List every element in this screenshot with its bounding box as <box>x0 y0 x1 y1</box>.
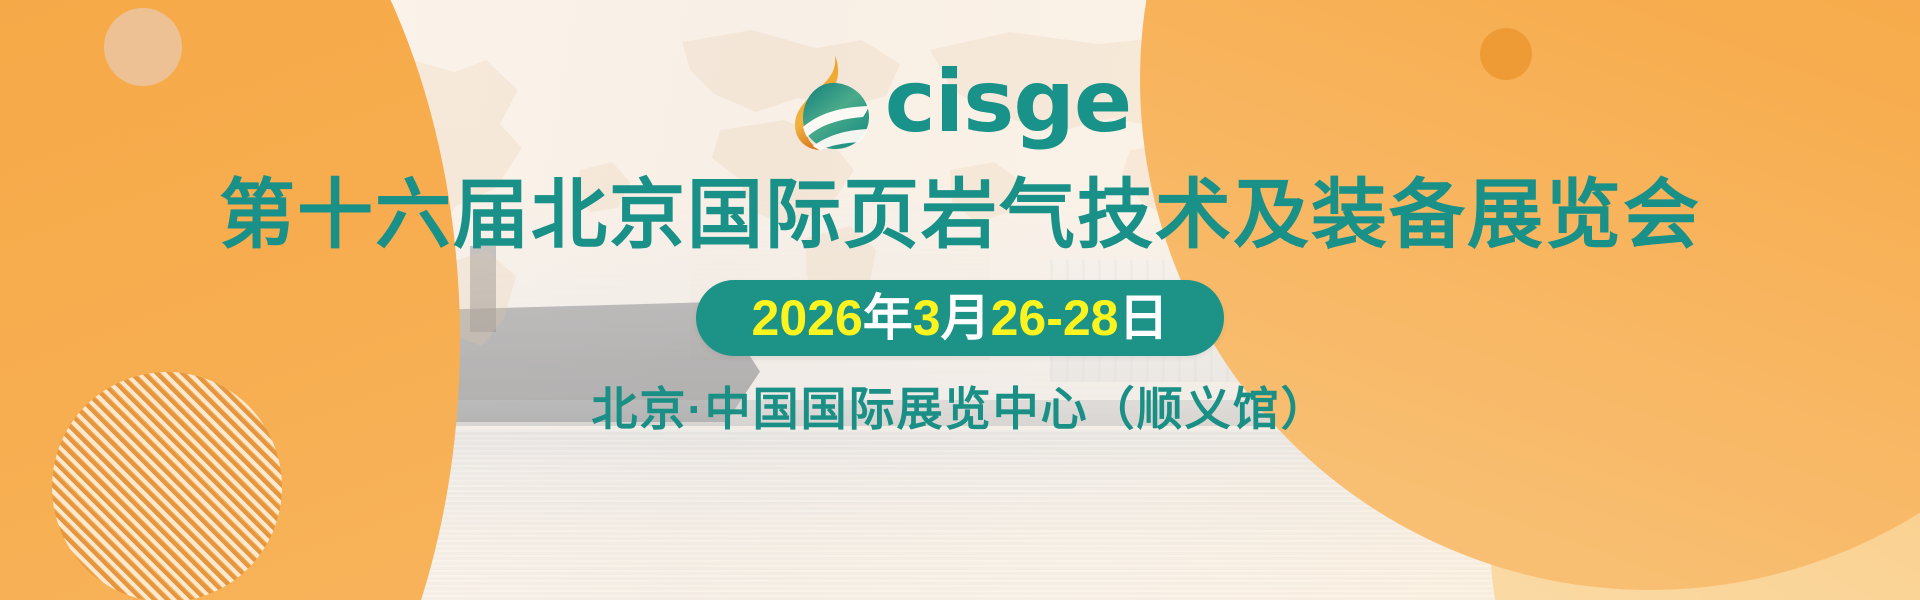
venue-text: 北京·中国国际展览中心（顺义馆） <box>591 386 1328 432</box>
date-days: 26-28 <box>991 290 1119 346</box>
date-badge: 2026年3月26-28日 <box>696 280 1225 356</box>
date-day-unit: 日 <box>1118 290 1168 346</box>
event-banner: cisge 第十六届北京国际页岩气技术及装备展览会 2026年3月26-28日 … <box>0 0 1920 600</box>
date-month: 3 <box>913 290 941 346</box>
logo[interactable]: cisge <box>789 50 1132 154</box>
date-month-unit: 月 <box>941 290 991 346</box>
page-title: 第十六届北京国际页岩气技术及装备展览会 <box>219 178 1701 254</box>
banner-content: cisge 第十六届北京国际页岩气技术及装备展览会 2026年3月26-28日 … <box>0 0 1920 600</box>
date-year: 2026 <box>752 290 863 346</box>
logo-wordmark: cisge <box>885 59 1132 145</box>
date-year-unit: 年 <box>863 290 913 346</box>
cisge-flame-leaf-logo-icon <box>789 53 871 151</box>
date-text: 2026年3月26-28日 <box>752 293 1169 343</box>
